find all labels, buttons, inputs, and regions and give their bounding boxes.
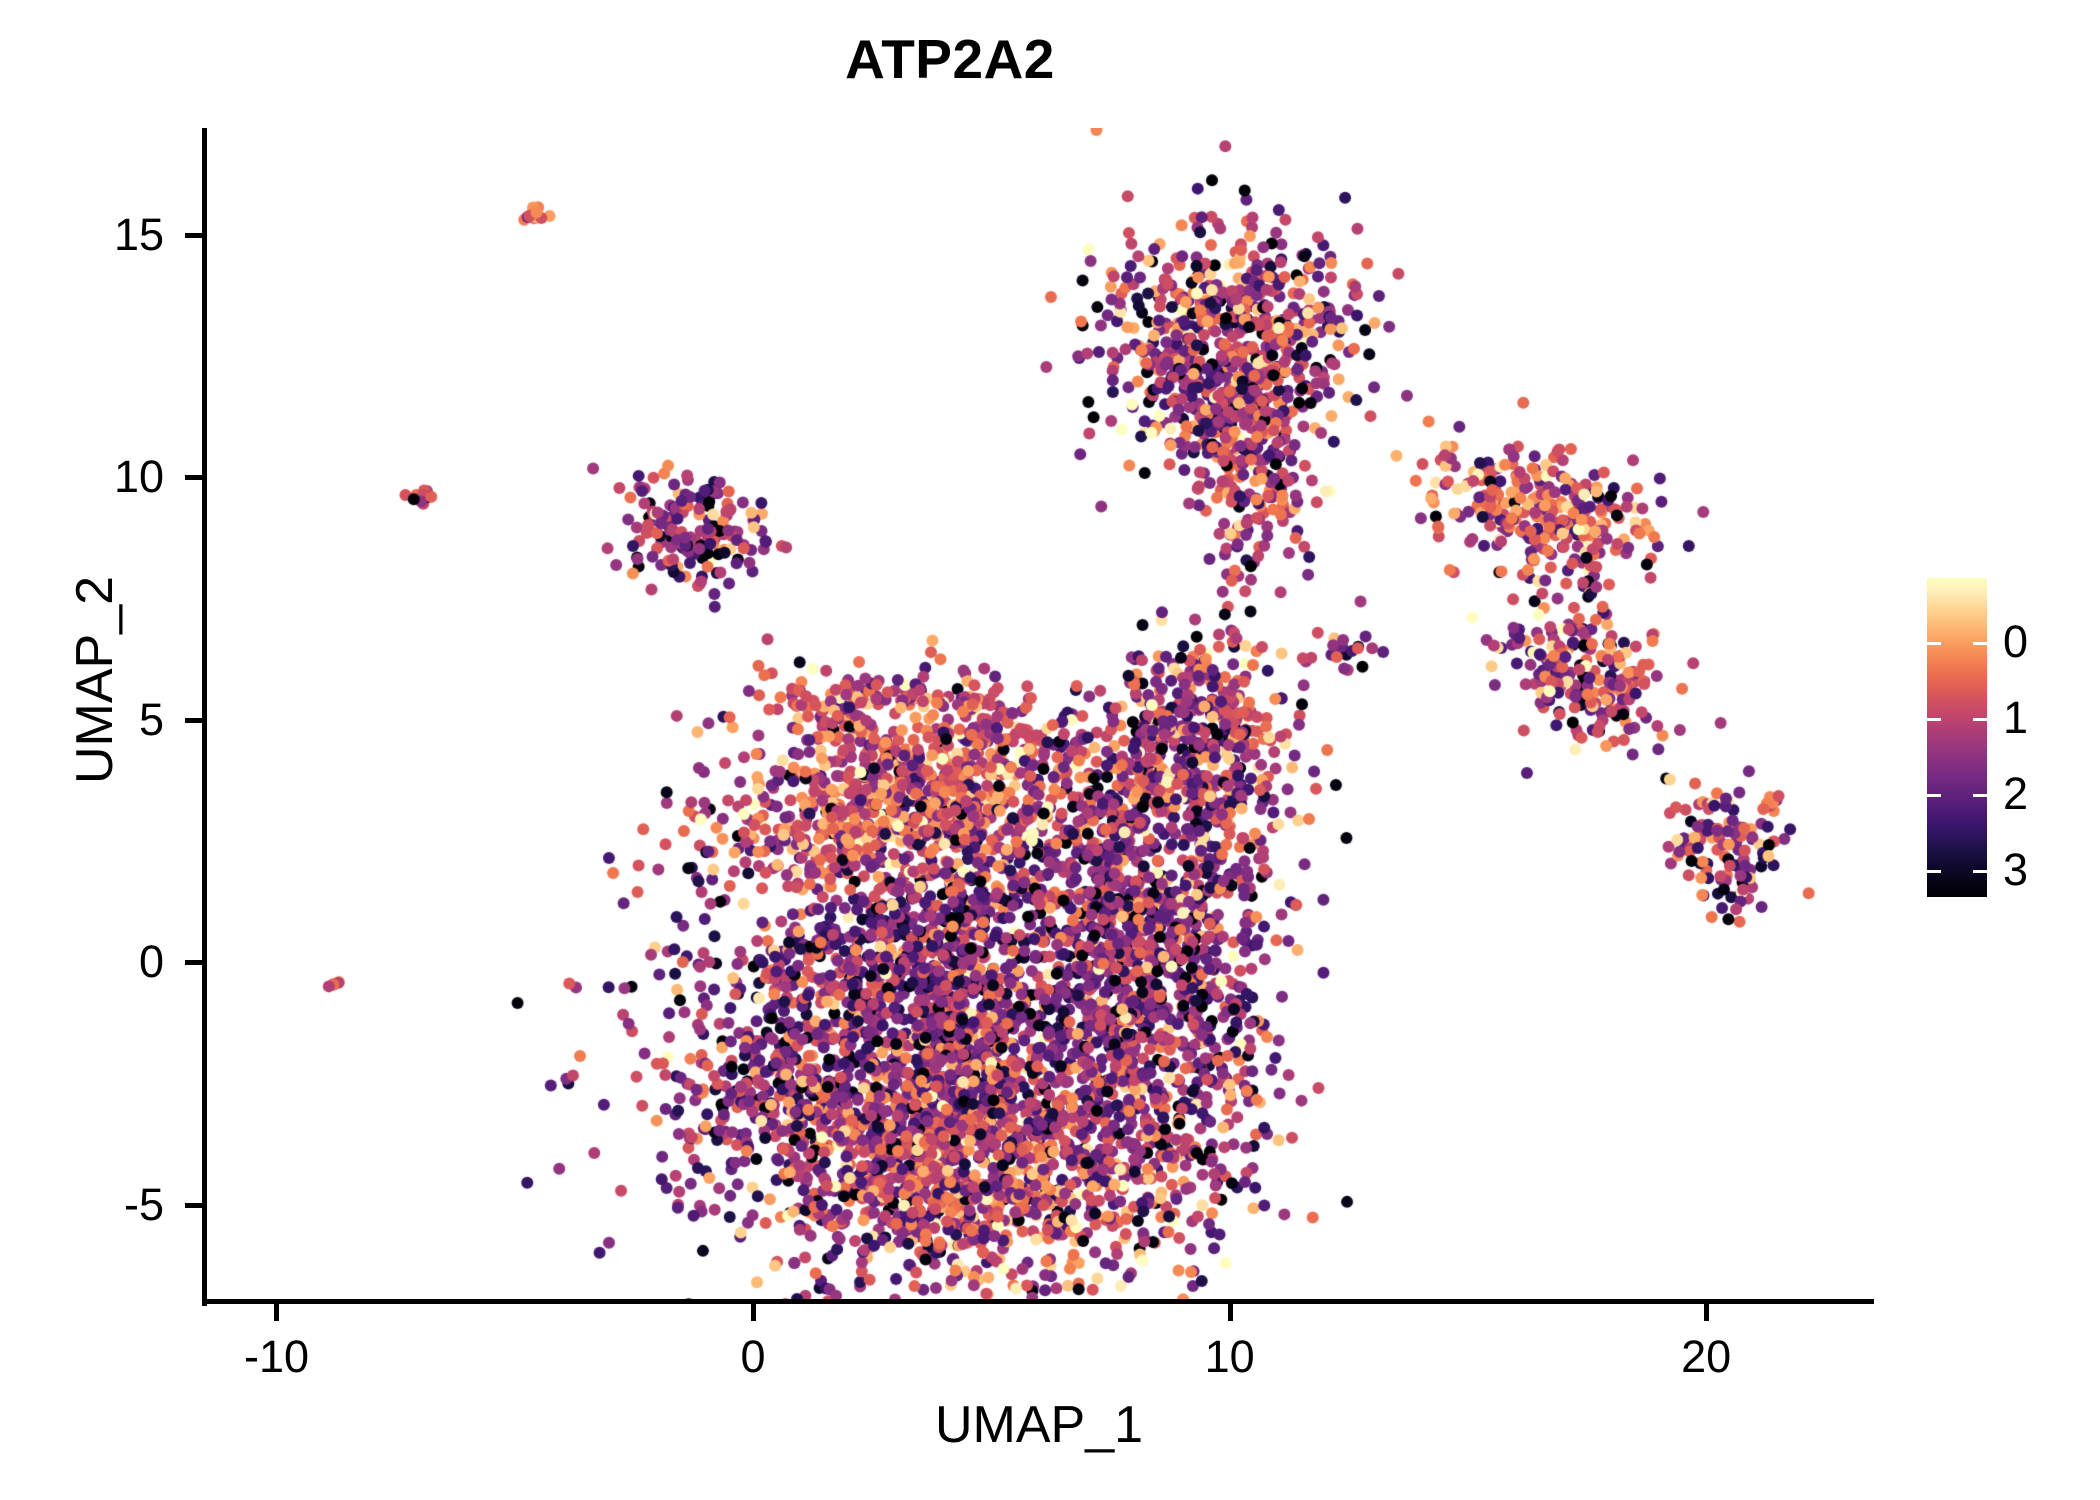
x-axis-label: UMAP_1 — [205, 1395, 1873, 1455]
y-axis-label: UMAP_2 — [65, 280, 125, 1080]
plot-panel — [205, 128, 1873, 1302]
scatter-points-canvas — [205, 128, 1873, 1302]
colorbar-tick-mark — [1973, 718, 1987, 721]
y-tick-mark — [185, 233, 202, 238]
y-tick-label: -5 — [124, 1182, 164, 1227]
x-axis-line — [202, 1299, 1874, 1304]
colorbar-tick-label: 3 — [2003, 847, 2028, 892]
colorbar-tick-mark — [1973, 870, 1987, 873]
x-tick-mark — [1228, 1304, 1233, 1321]
x-tick-mark — [751, 1304, 756, 1321]
colorbar-tick-label: 1 — [2003, 695, 2028, 740]
x-tick-label: 0 — [653, 1334, 853, 1379]
x-tick-label: 20 — [1606, 1334, 1806, 1379]
colorbar-tick-mark — [1927, 870, 1941, 873]
colorbar-tick-mark — [1973, 642, 1987, 645]
x-tick-label: -10 — [176, 1334, 376, 1379]
colorbar-tick-mark — [1973, 794, 1987, 797]
colorbar-gradient — [1927, 578, 1987, 897]
y-tick-mark — [185, 718, 202, 723]
y-tick-label: 5 — [139, 697, 164, 742]
colorbar-tick-mark — [1927, 642, 1941, 645]
x-tick-mark — [1704, 1304, 1709, 1321]
colorbar-tick-label: 0 — [2003, 619, 2028, 664]
colorbar-legend: 3210 — [1927, 578, 2077, 898]
x-tick-mark — [274, 1304, 279, 1321]
y-tick-label: 15 — [114, 212, 164, 257]
y-tick-mark — [185, 475, 202, 480]
y-tick-mark — [185, 960, 202, 965]
y-tick-mark — [185, 1203, 202, 1208]
y-axis-line — [202, 128, 207, 1306]
y-tick-label: 0 — [139, 939, 164, 984]
colorbar-tick-mark — [1927, 794, 1941, 797]
page-title: ATP2A2 — [0, 24, 1900, 94]
colorbar-tick-mark — [1927, 718, 1941, 721]
x-tick-label: 10 — [1130, 1334, 1330, 1379]
umap-feature-plot: ATP2A2 151050-5-1001020 UMAP_1 UMAP_2 32… — [0, 0, 2100, 1500]
colorbar-tick-label: 2 — [2003, 771, 2028, 816]
